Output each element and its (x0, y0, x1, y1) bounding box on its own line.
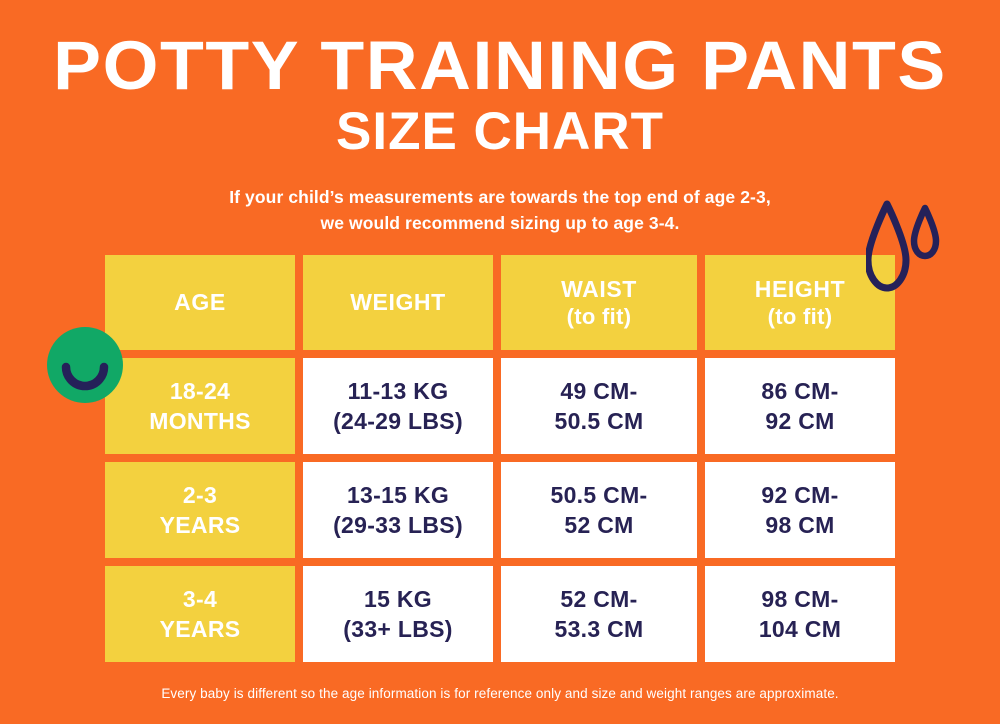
cell-height: 98 CM- 104 CM (705, 566, 895, 662)
cell-height-line-1: 98 CM- (761, 584, 838, 614)
cell-height: 92 CM- 98 CM (705, 462, 895, 558)
table-row: 18-24 MONTHS 11-13 KG (24-29 LBS) 49 CM-… (105, 358, 895, 454)
cell-waist-line-2: 50.5 CM (554, 406, 643, 436)
cell-height-line-1: 92 CM- (761, 480, 838, 510)
size-chart-table: AGE WEIGHT WAIST (to fit) HEIGHT (to fit… (105, 255, 895, 670)
sizing-note-line-1: If your child’s measurements are towards… (0, 184, 1000, 210)
column-header-age: AGE (105, 255, 295, 350)
cell-height-line-2: 98 CM (765, 510, 834, 540)
title-block: POTTY TRAINING PANTS SIZE CHART (0, 30, 1000, 160)
sizing-note: If your child’s measurements are towards… (0, 184, 1000, 236)
column-header-waist-label: WAIST (561, 276, 637, 303)
cell-weight: 15 KG (33+ LBS) (303, 566, 493, 662)
cell-age-line-2: YEARS (160, 510, 241, 540)
cell-height: 86 CM- 92 CM (705, 358, 895, 454)
cell-waist: 52 CM- 53.3 CM (501, 566, 697, 662)
column-header-weight: WEIGHT (303, 255, 493, 350)
cell-weight-line-1: 15 KG (364, 584, 432, 614)
cell-weight-line-2: (24-29 LBS) (333, 406, 463, 436)
column-header-waist-sublabel: (to fit) (567, 303, 632, 330)
cell-age-line-1: 18-24 (170, 376, 230, 406)
cell-waist: 50.5 CM- 52 CM (501, 462, 697, 558)
cell-age-line-1: 2-3 (183, 480, 217, 510)
size-chart-poster: POTTY TRAINING PANTS SIZE CHART If your … (0, 0, 1000, 724)
water-droplets-icon (866, 198, 950, 298)
cell-height-line-2: 92 CM (765, 406, 834, 436)
smiley-face-icon (47, 327, 123, 403)
table-header-row: AGE WEIGHT WAIST (to fit) HEIGHT (to fit… (105, 255, 895, 350)
column-header-waist: WAIST (to fit) (501, 255, 697, 350)
cell-age: 18-24 MONTHS (105, 358, 295, 454)
cell-weight-line-2: (33+ LBS) (343, 614, 452, 644)
cell-waist-line-1: 50.5 CM- (551, 480, 648, 510)
cell-weight: 13-15 KG (29-33 LBS) (303, 462, 493, 558)
column-header-weight-label: WEIGHT (350, 289, 446, 316)
cell-height-line-2: 104 CM (759, 614, 841, 644)
cell-age: 2-3 YEARS (105, 462, 295, 558)
page-title: POTTY TRAINING PANTS (0, 30, 1000, 102)
cell-age-line-1: 3-4 (183, 584, 217, 614)
cell-height-line-1: 86 CM- (761, 376, 838, 406)
cell-waist: 49 CM- 50.5 CM (501, 358, 697, 454)
cell-age: 3-4 YEARS (105, 566, 295, 662)
column-header-height-label: HEIGHT (755, 276, 846, 303)
cell-weight-line-1: 13-15 KG (347, 480, 449, 510)
cell-waist-line-1: 52 CM- (560, 584, 637, 614)
column-header-height-sublabel: (to fit) (768, 303, 833, 330)
cell-waist-line-1: 49 CM- (560, 376, 637, 406)
cell-age-line-2: YEARS (160, 614, 241, 644)
page-subtitle: SIZE CHART (0, 104, 1000, 160)
cell-waist-line-2: 52 CM (564, 510, 633, 540)
column-header-age-label: AGE (174, 289, 226, 316)
cell-age-line-2: MONTHS (149, 406, 250, 436)
sizing-note-line-2: we would recommend sizing up to age 3-4. (0, 210, 1000, 236)
table-row: 2-3 YEARS 13-15 KG (29-33 LBS) 50.5 CM- … (105, 462, 895, 558)
cell-weight: 11-13 KG (24-29 LBS) (303, 358, 493, 454)
cell-waist-line-2: 53.3 CM (554, 614, 643, 644)
cell-weight-line-1: 11-13 KG (348, 376, 449, 406)
table-row: 3-4 YEARS 15 KG (33+ LBS) 52 CM- 53.3 CM… (105, 566, 895, 662)
footer-disclaimer: Every baby is different so the age infor… (0, 686, 1000, 701)
cell-weight-line-2: (29-33 LBS) (333, 510, 463, 540)
